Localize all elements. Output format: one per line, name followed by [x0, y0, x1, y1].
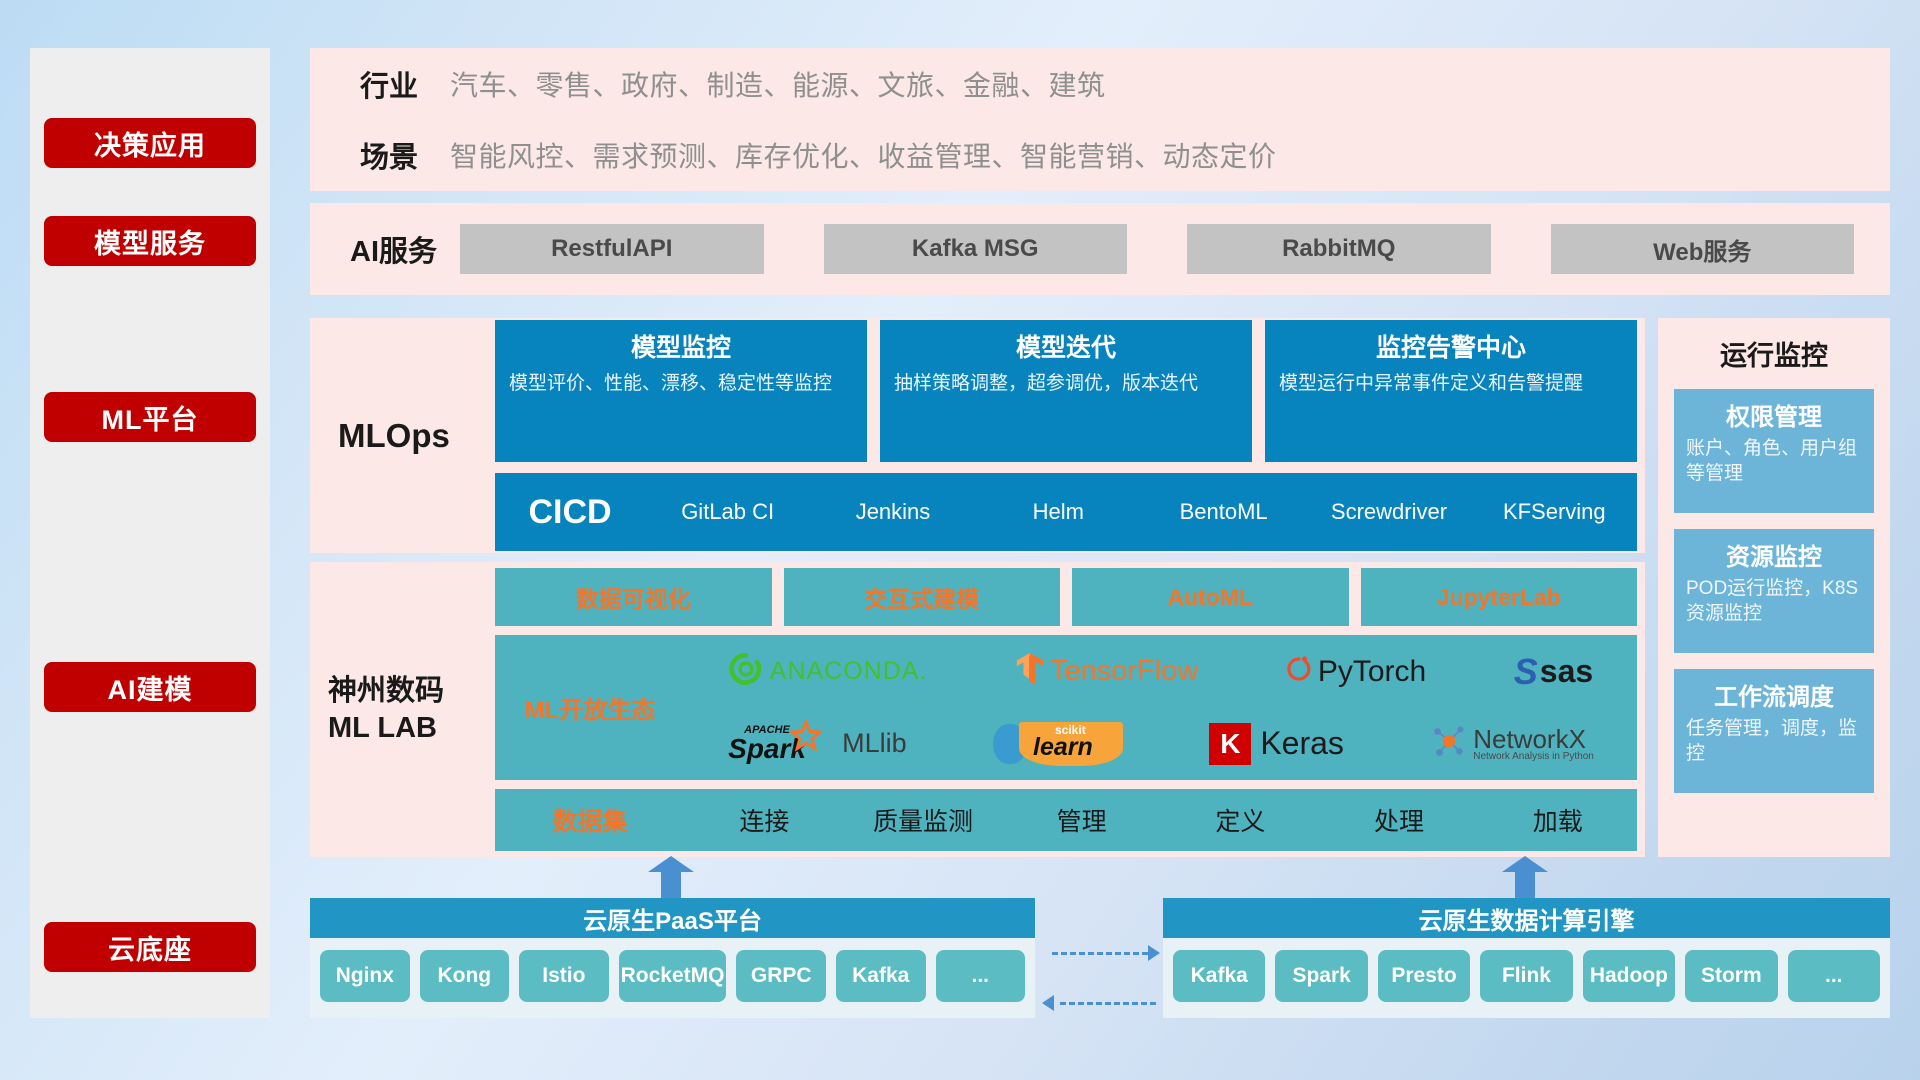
card-desc: POD运行监控，K8S资源监控 [1686, 577, 1862, 626]
ml-open-ecosystem: ML开放生态 ANACONDA. [495, 635, 1637, 780]
paas-platform-panel: 云原生PaaS平台 Nginx Kong Istio RocketMQ GRPC… [310, 898, 1035, 1018]
rail-label: AI建模 [108, 668, 193, 707]
data-engine-up-arrow-icon [1502, 856, 1548, 898]
networkx-icon [1430, 722, 1468, 765]
runtime-monitoring-panel: 运行监控 权限管理 账户、角色、用户组等管理 资源监控 POD运行监控，K8S资… [1658, 318, 1890, 857]
modeling-tool-list: 数据可视化 交互式建模 AutoML JupyterLab [495, 568, 1637, 626]
engine-chip-presto[interactable]: Presto [1378, 950, 1470, 1002]
dataset-item-process[interactable]: 处理 [1320, 802, 1479, 838]
rail-item-cloud-base[interactable]: 云底座 [44, 922, 256, 972]
paas-chip-kafka[interactable]: Kafka [836, 950, 926, 1002]
paas-chip-kong[interactable]: Kong [420, 950, 510, 1002]
paas-chip-rocketmq[interactable]: RocketMQ [619, 950, 727, 1002]
ai-chip-restfulapi[interactable]: RestfulAPI [460, 224, 764, 274]
data-compute-engine-title: 云原生数据计算引擎 [1163, 898, 1890, 938]
logo-row-2: APACHE Spark MLlib [685, 708, 1637, 780]
cicd-item-screwdriver[interactable]: Screwdriver [1306, 499, 1471, 525]
base-link-top [1052, 952, 1148, 955]
mlops-card-model-monitoring[interactable]: 模型监控 模型评价、性能、漂移、稳定性等监控 [495, 320, 867, 462]
engine-chip-hadoop[interactable]: Hadoop [1583, 950, 1675, 1002]
cicd-item-kfserving[interactable]: KFServing [1472, 499, 1637, 525]
card-title: 工作流调度 [1686, 677, 1862, 712]
mllib-wordmark: MLlib [842, 728, 907, 759]
cicd-item-helm[interactable]: Helm [976, 499, 1141, 525]
card-desc: 模型运行中异常事件定义和告警提醒 [1279, 371, 1623, 396]
ml-lab-label-line1: 神州数码 [328, 673, 495, 709]
sas-wordmark: sas [1540, 653, 1593, 690]
networkx-wordmark: NetworkX [1473, 726, 1594, 752]
decision-apps-panel: 行业 汽车、零售、政府、制造、能源、文旅、金融、建筑 场景 智能风控、需求预测、… [310, 48, 1890, 191]
ai-chip-kafka-msg[interactable]: Kafka MSG [824, 224, 1128, 274]
mlops-card-list: 模型监控 模型评价、性能、漂移、稳定性等监控 模型迭代 抽样策略调整，超参调优，… [495, 320, 1637, 462]
card-desc: 账户、角色、用户组等管理 [1686, 437, 1862, 486]
scikit-learn-logo: scikit learn [993, 722, 1123, 766]
layer-rail: 决策应用 模型服务 ML平台 AI建模 云底座 [30, 48, 270, 1018]
card-desc: 抽样策略调整，超参调优，版本迭代 [894, 371, 1238, 396]
cicd-bar: CICD GitLab CI Jenkins Helm BentoML Scre… [495, 473, 1637, 551]
monitoring-card-resources[interactable]: 资源监控 POD运行监控，K8S资源监控 [1674, 529, 1874, 653]
paas-chip-list: Nginx Kong Istio RocketMQ GRPC Kafka ... [310, 938, 1035, 1014]
mlops-content: 模型监控 模型评价、性能、漂移、稳定性等监控 模型迭代 抽样策略调整，超参调优，… [495, 320, 1645, 551]
engine-chip-storm[interactable]: Storm [1685, 950, 1777, 1002]
base-link-bottom-arrow-icon [1042, 995, 1054, 1011]
logo-row-1: ANACONDA. TensorFlow [685, 636, 1637, 708]
ai-chip-web-service[interactable]: Web服务 [1551, 224, 1855, 274]
card-title: 监控告警中心 [1279, 328, 1623, 364]
scenario-values: 智能风控、需求预测、库存优化、收益管理、智能营销、动态定价 [450, 135, 1277, 175]
rail-item-ml-platform[interactable]: ML平台 [44, 392, 256, 442]
diagram-canvas: 决策应用 模型服务 ML平台 AI建模 云底座 行业 汽车、零售、政府、制造、能… [0, 0, 1920, 1080]
dataset-item-connect[interactable]: 连接 [685, 802, 844, 838]
spark-star-icon [790, 720, 822, 752]
engine-chip-spark[interactable]: Spark [1275, 950, 1367, 1002]
rail-item-ai-modeling[interactable]: AI建模 [44, 662, 256, 712]
paas-platform-title: 云原生PaaS平台 [310, 898, 1035, 938]
industry-values: 汽车、零售、政府、制造、能源、文旅、金融、建筑 [450, 64, 1106, 104]
mlops-card-model-iteration[interactable]: 模型迭代 抽样策略调整，超参调优，版本迭代 [880, 320, 1252, 462]
tool-jupyterlab[interactable]: JupyterLab [1361, 568, 1638, 626]
keras-icon: K [1209, 723, 1251, 765]
ecosystem-logo-grid: ANACONDA. TensorFlow [685, 636, 1637, 780]
rail-label: ML平台 [102, 398, 199, 437]
pytorch-logo: PyTorch [1286, 653, 1426, 690]
scikit-badge-icon: scikit learn [1019, 722, 1123, 766]
card-title: 模型迭代 [894, 328, 1238, 364]
anaconda-logo: ANACONDA. [729, 652, 928, 691]
ai-service-chip-list: RestfulAPI Kafka MSG RabbitMQ Web服务 [460, 224, 1890, 274]
engine-chip-flink[interactable]: Flink [1480, 950, 1572, 1002]
sas-icon: S [1514, 651, 1538, 693]
card-title: 模型监控 [509, 328, 853, 364]
scikit-learn-text: learn [1033, 733, 1093, 762]
cicd-item-list: GitLab CI Jenkins Helm BentoML Screwdriv… [645, 499, 1637, 525]
ml-lab-label: 神州数码 ML LAB [310, 673, 495, 746]
card-desc: 模型评价、性能、漂移、稳定性等监控 [509, 371, 853, 396]
card-title: 权限管理 [1686, 397, 1862, 432]
card-title: 资源监控 [1686, 537, 1862, 572]
scenario-row: 场景 智能风控、需求预测、库存优化、收益管理、智能营销、动态定价 [310, 120, 1890, 192]
sas-logo: S sas [1514, 651, 1593, 693]
tool-interactive-modeling[interactable]: 交互式建模 [784, 568, 1061, 626]
ai-service-label: AI服务 [310, 228, 460, 270]
dataset-item-manage[interactable]: 管理 [1002, 802, 1161, 838]
monitoring-card-workflow[interactable]: 工作流调度 任务管理，调度，监控 [1674, 669, 1874, 793]
spark-mllib-logo: APACHE Spark MLlib [728, 724, 907, 764]
data-engine-chip-list: Kafka Spark Presto Flink Hadoop Storm ..… [1163, 938, 1890, 1014]
cicd-item-bentoml[interactable]: BentoML [1141, 499, 1306, 525]
pytorch-wordmark: PyTorch [1318, 655, 1426, 689]
cicd-title: CICD [495, 493, 645, 532]
scenario-label: 场景 [310, 134, 450, 176]
spark-icon: APACHE Spark [728, 724, 836, 764]
monitoring-title: 运行监控 [1674, 334, 1874, 373]
rail-item-decision-apps[interactable]: 决策应用 [44, 118, 256, 168]
dataset-bar: 数据集 连接 质量监测 管理 定义 处理 加载 [495, 789, 1637, 851]
industry-label: 行业 [310, 63, 450, 105]
ai-chip-rabbitmq[interactable]: RabbitMQ [1187, 224, 1491, 274]
mlops-label: MLOps [310, 417, 495, 455]
dataset-item-list: 连接 质量监测 管理 定义 处理 加载 [685, 802, 1637, 838]
tool-automl[interactable]: AutoML [1072, 568, 1349, 626]
keras-wordmark: Keras [1260, 725, 1344, 762]
ai-modeling-panel: 神州数码 ML LAB 数据可视化 交互式建模 AutoML JupyterLa… [310, 562, 1645, 857]
engine-chip-kafka[interactable]: Kafka [1173, 950, 1265, 1002]
networkx-logo: NetworkX Network Analysis in Python [1430, 722, 1594, 765]
ai-service-panel: AI服务 RestfulAPI Kafka MSG RabbitMQ Web服务 [310, 203, 1890, 295]
base-link-bottom [1060, 1002, 1156, 1005]
paas-chip-nginx[interactable]: Nginx [320, 950, 410, 1002]
dataset-item-load[interactable]: 加载 [1478, 802, 1637, 838]
paas-chip-grpc[interactable]: GRPC [736, 950, 826, 1002]
anaconda-icon [729, 652, 763, 691]
cicd-item-jenkins[interactable]: Jenkins [810, 499, 975, 525]
tensorflow-icon [1015, 652, 1045, 691]
data-compute-engine-panel: 云原生数据计算引擎 Kafka Spark Presto Flink Hadoo… [1163, 898, 1890, 1018]
cicd-item-gitlab-ci[interactable]: GitLab CI [645, 499, 810, 525]
card-desc: 任务管理，调度，监控 [1686, 717, 1862, 766]
paas-chip-more[interactable]: ... [936, 950, 1026, 1002]
industry-row: 行业 汽车、零售、政府、制造、能源、文旅、金融、建筑 [310, 48, 1890, 120]
networkx-subtitle: Network Analysis in Python [1473, 752, 1594, 762]
rail-label: 云底座 [108, 928, 192, 967]
rail-label: 决策应用 [94, 124, 206, 163]
mlops-card-alert-center[interactable]: 监控告警中心 模型运行中异常事件定义和告警提醒 [1265, 320, 1637, 462]
dataset-item-quality[interactable]: 质量监测 [844, 802, 1003, 838]
monitoring-card-permissions[interactable]: 权限管理 账户、角色、用户组等管理 [1674, 389, 1874, 513]
ml-lab-label-line2: ML LAB [328, 710, 495, 746]
rail-label: 模型服务 [94, 222, 206, 261]
pytorch-icon [1286, 653, 1312, 690]
tensorflow-wordmark: TensorFlow [1050, 655, 1198, 688]
base-link-top-arrow-icon [1148, 945, 1160, 961]
paas-up-arrow-icon [648, 856, 694, 898]
ml-ecosystem-label: ML开放生态 [495, 690, 685, 725]
paas-chip-istio[interactable]: Istio [519, 950, 609, 1002]
anaconda-wordmark: ANACONDA. [770, 657, 928, 686]
rail-item-model-service[interactable]: 模型服务 [44, 216, 256, 266]
modeling-content: 数据可视化 交互式建模 AutoML JupyterLab ML开放生态 [495, 568, 1645, 851]
tensorflow-logo: TensorFlow [1015, 652, 1198, 691]
keras-logo: K Keras [1209, 723, 1344, 765]
dataset-title: 数据集 [495, 802, 685, 838]
tool-data-visualization[interactable]: 数据可视化 [495, 568, 772, 626]
dataset-item-define[interactable]: 定义 [1161, 802, 1320, 838]
mlops-panel: MLOps 模型监控 模型评价、性能、漂移、稳定性等监控 模型迭代 抽样策略调整… [310, 318, 1645, 553]
engine-chip-more[interactable]: ... [1788, 950, 1880, 1002]
